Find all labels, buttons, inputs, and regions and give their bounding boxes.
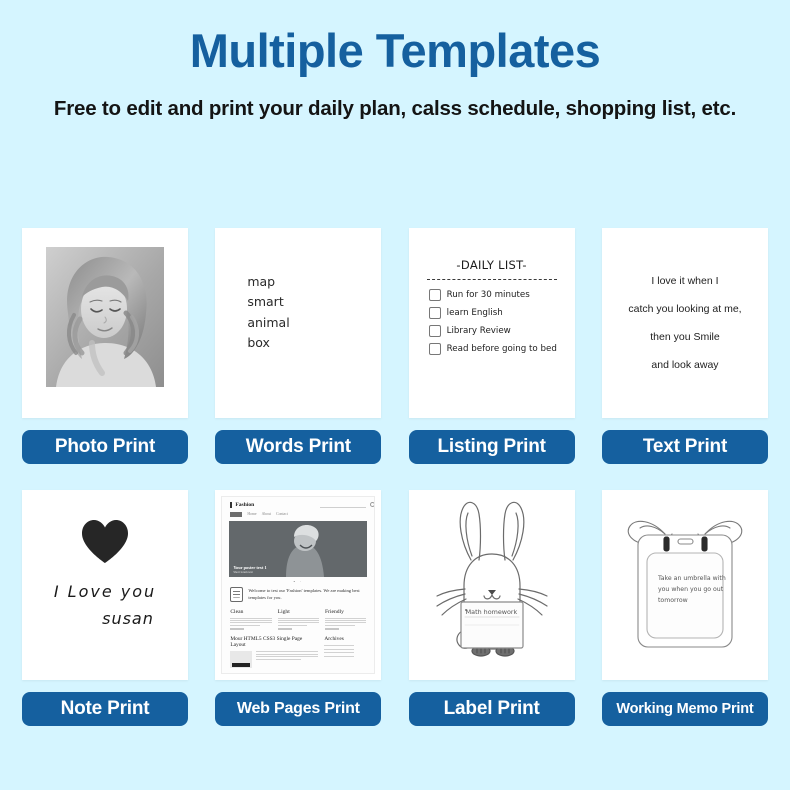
- bunny-outline-illustration: [409, 490, 575, 680]
- button-working-memo-print[interactable]: Working Memo Print: [602, 692, 768, 726]
- web-bottom-section: Mour HTML5 CSS3 Single Page Layout Archi…: [222, 630, 374, 668]
- preview-card-label: Math homework: [409, 490, 575, 680]
- bottom-heading: Mour HTML5 CSS3 Single Page Layout: [230, 636, 318, 648]
- template-cell-working-memo-print[interactable]: Take an umbrella with you when you go ou…: [602, 490, 768, 726]
- template-row-2: I Love you susan Note Print Fashion: [0, 490, 790, 726]
- todo-label: learn English: [447, 308, 503, 318]
- template-grid: Photo Print map smart animal box Words P…: [0, 228, 790, 726]
- nav-active-chip: [230, 512, 242, 517]
- article-thumb-row: [230, 651, 318, 668]
- feature-column: Friendly: [325, 609, 366, 631]
- template-cell-listing-print[interactable]: -DAILY LIST- Run for 30 minutes learn En…: [409, 228, 575, 464]
- note-line-1: I Love you: [22, 582, 188, 601]
- button-note-print[interactable]: Note Print: [22, 692, 188, 726]
- feature-column: Clean: [230, 609, 271, 631]
- archive-links[interactable]: [324, 645, 366, 656]
- preview-card-text: I love it when I catch you looking at me…: [602, 228, 768, 418]
- button-label-print[interactable]: Label Print: [409, 692, 575, 726]
- note-content: I Love you susan: [22, 490, 188, 680]
- carousel-dots-icon[interactable]: • ·: [222, 579, 374, 584]
- preview-card-memo: Take an umbrella with you when you go ou…: [602, 490, 768, 680]
- hero-subcaption: Short lorem text: [233, 570, 266, 574]
- article-thumbnail: [230, 651, 252, 668]
- document-icon: [230, 587, 243, 602]
- todo-item[interactable]: Read before going to bed: [425, 343, 559, 355]
- page-title: Multiple Templates: [0, 26, 790, 75]
- button-text-print[interactable]: Text Print: [602, 430, 768, 464]
- read-more-link[interactable]: [230, 628, 244, 630]
- memo-text: Take an umbrella with you when you go ou…: [658, 574, 730, 607]
- word-list: map smart animal box: [247, 272, 289, 353]
- dashed-divider: [427, 279, 557, 280]
- search-icon: [320, 502, 366, 508]
- placeholder-lines: [256, 651, 318, 668]
- template-cell-web-pages-print[interactable]: Fashion Home About Contact: [215, 490, 381, 726]
- hero-caption-block: Your poster text 1 Short lorem text: [233, 565, 266, 574]
- hero-image: Your poster text 1 Short lorem text: [229, 521, 367, 577]
- archives-block: Archives: [324, 636, 366, 668]
- template-cell-label-print[interactable]: Math homework Label Print: [409, 490, 575, 726]
- placeholder-lines: [278, 618, 319, 626]
- page-subtitle: Free to edit and print your daily plan, …: [45, 94, 745, 124]
- todo-label: Read before going to bed: [447, 344, 557, 354]
- template-cell-note-print[interactable]: I Love you susan Note Print: [22, 490, 188, 726]
- welcome-block: Welcome to test our 'Fashion' templates.…: [222, 587, 374, 602]
- preview-card-photo: [22, 228, 188, 418]
- nav-item: Home: [247, 512, 256, 516]
- nav-item: About: [262, 512, 272, 516]
- heart-icon: [79, 518, 131, 564]
- placeholder-lines: [325, 618, 366, 626]
- daily-list-title: -DAILY LIST-: [425, 258, 559, 272]
- web-page-thumbnail: Fashion Home About Contact: [221, 496, 375, 674]
- button-listing-print[interactable]: Listing Print: [409, 430, 575, 464]
- feature-columns: Clean Light Friendly: [222, 602, 374, 631]
- checkbox-icon[interactable]: [429, 325, 441, 337]
- button-web-pages-print[interactable]: Web Pages Print: [215, 692, 381, 726]
- checkbox-icon[interactable]: [429, 343, 441, 355]
- todo-item[interactable]: learn English: [425, 307, 559, 319]
- preview-card-words: map smart animal box: [215, 228, 381, 418]
- feature-heading: Clean: [230, 609, 271, 615]
- daily-list: -DAILY LIST- Run for 30 minutes learn En…: [409, 228, 575, 418]
- read-more-link[interactable]: [325, 628, 339, 630]
- feature-heading: Friendly: [325, 609, 366, 615]
- placeholder-lines: [230, 618, 271, 626]
- page-header: Multiple Templates Free to edit and prin…: [0, 0, 790, 124]
- archives-heading: Archives: [324, 636, 366, 642]
- feature-column: Light: [278, 609, 319, 631]
- portrait-photo: [46, 247, 164, 387]
- checkbox-icon[interactable]: [429, 289, 441, 301]
- word-item: smart: [247, 292, 289, 312]
- photo-frame: [36, 237, 174, 409]
- todo-item[interactable]: Library Review: [425, 325, 559, 337]
- note-line-2: susan: [22, 609, 188, 628]
- button-photo-print[interactable]: Photo Print: [22, 430, 188, 464]
- word-item: map: [247, 272, 289, 292]
- template-cell-words-print[interactable]: map smart animal box Words Print: [215, 228, 381, 464]
- todo-item[interactable]: Run for 30 minutes: [425, 289, 559, 301]
- preview-card-listing: -DAILY LIST- Run for 30 minutes learn En…: [409, 228, 575, 418]
- label-note-text: Math homework: [466, 608, 518, 616]
- feature-heading: Light: [278, 609, 319, 615]
- text-line: catch you looking at me,: [628, 303, 741, 315]
- preview-card-note: I Love you susan: [22, 490, 188, 680]
- todo-label: Run for 30 minutes: [447, 290, 530, 300]
- word-item: box: [247, 333, 289, 353]
- word-item: animal: [247, 313, 289, 333]
- text-line: then you Smile: [650, 331, 719, 343]
- preview-card-web: Fashion Home About Contact: [215, 490, 381, 680]
- template-cell-photo-print[interactable]: Photo Print: [22, 228, 188, 464]
- todo-label: Library Review: [447, 326, 511, 336]
- welcome-text: Welcome to test our 'Fashion' templates.…: [248, 587, 366, 601]
- text-line: I love it when I: [651, 275, 718, 287]
- template-cell-text-print[interactable]: I love it when I catch you looking at me…: [602, 228, 768, 464]
- text-line: and look away: [651, 359, 718, 371]
- site-logo: Fashion: [230, 502, 254, 508]
- read-more-link[interactable]: [278, 628, 292, 630]
- bottom-article: Mour HTML5 CSS3 Single Page Layout: [230, 636, 318, 668]
- checkbox-icon[interactable]: [429, 307, 441, 319]
- nav-item: Contact: [276, 512, 288, 516]
- web-nav: Home About Contact: [222, 510, 374, 521]
- text-block: I love it when I catch you looking at me…: [602, 228, 768, 418]
- button-words-print[interactable]: Words Print: [215, 430, 381, 464]
- template-row-1: Photo Print map smart animal box Words P…: [0, 228, 790, 464]
- web-header: Fashion: [222, 497, 374, 510]
- templates-promo-page: Multiple Templates Free to edit and prin…: [0, 0, 790, 790]
